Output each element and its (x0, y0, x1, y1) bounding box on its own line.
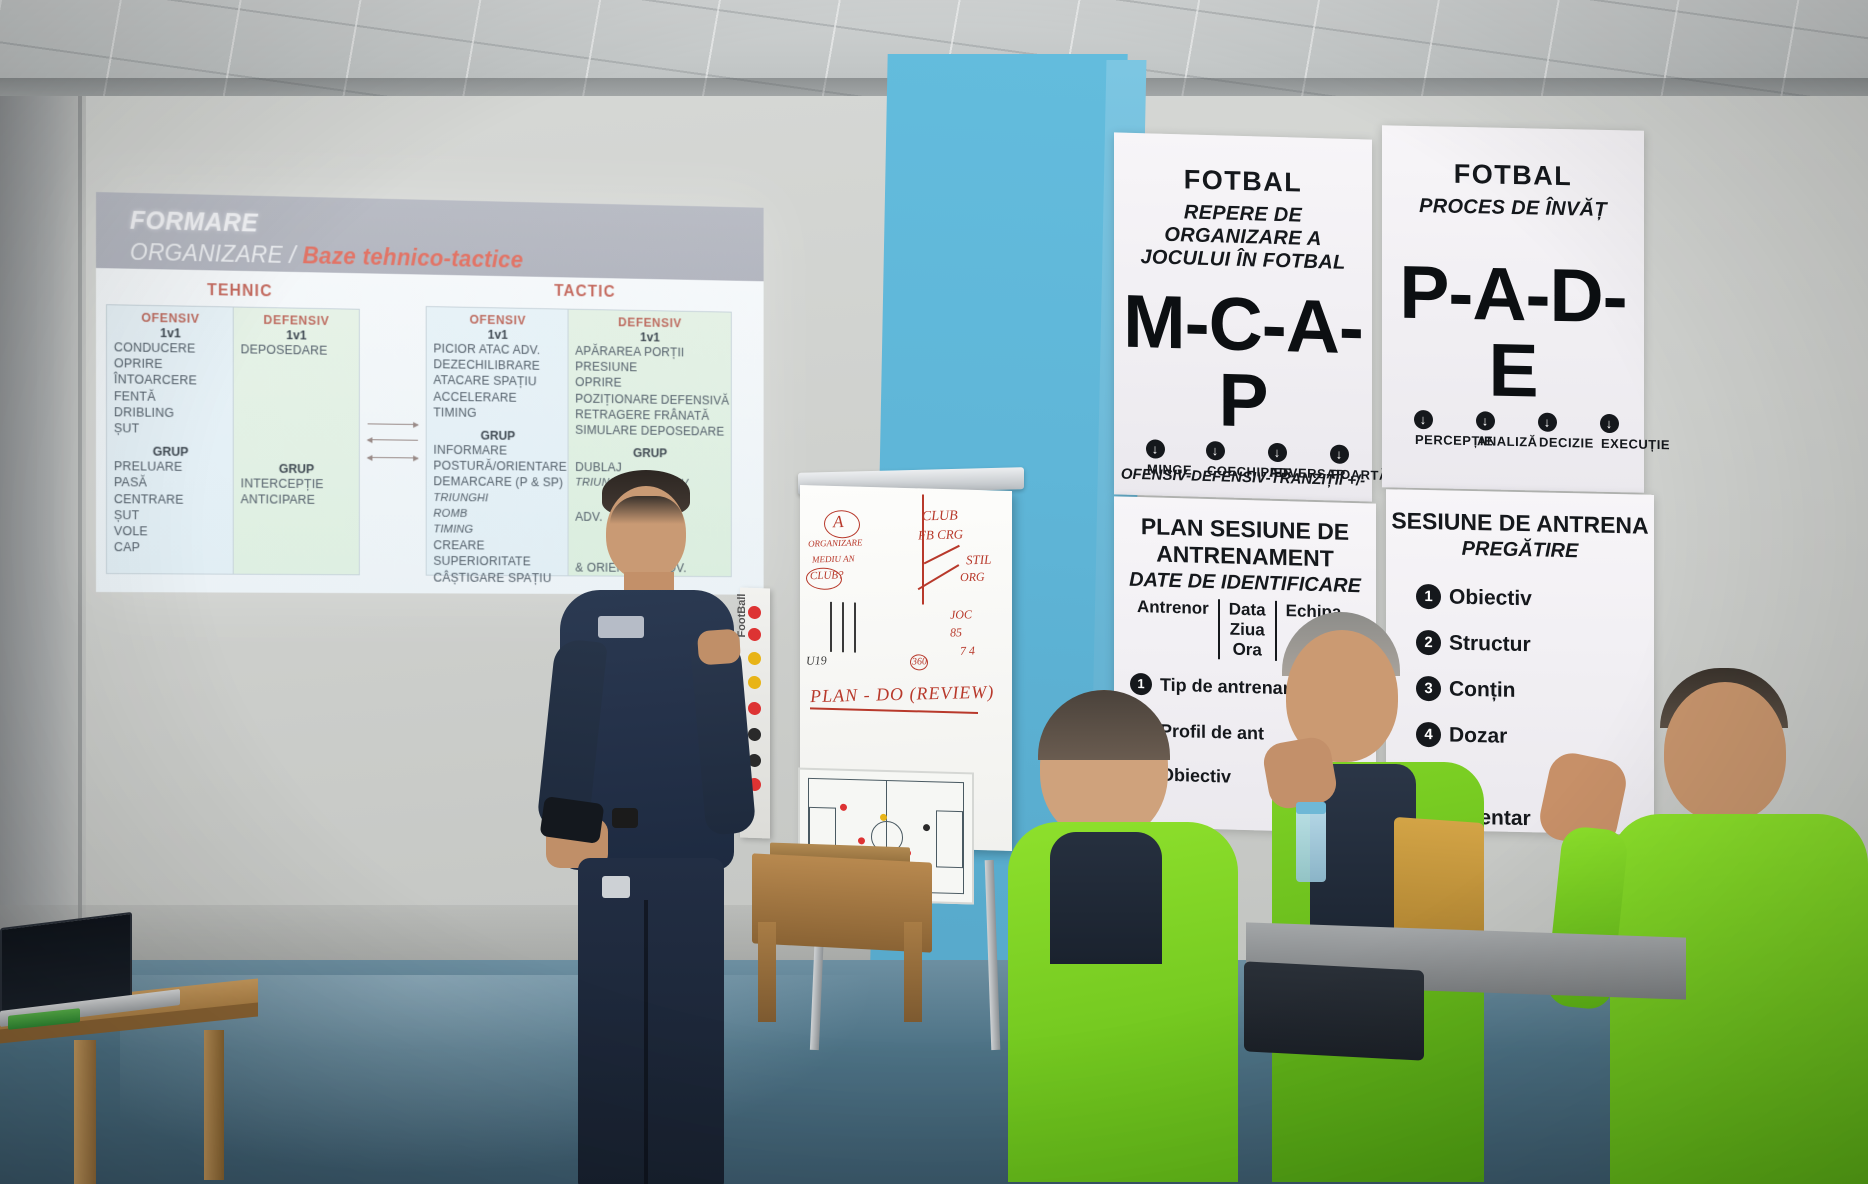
handwriting-note: MEDIU AN (812, 553, 855, 564)
poster-kicker: FOTBAL (1382, 157, 1644, 193)
attendee-hand (1261, 735, 1339, 812)
poster-kicker: FOTBAL (1114, 162, 1372, 200)
handwriting-stroke (922, 494, 924, 604)
slide-title: FORMARE (130, 207, 258, 239)
poster-legend-item: ↓ DECIZIE (1532, 412, 1562, 450)
handwriting-note: CLUB? (810, 569, 844, 582)
list-item: ATACARE SPAȚIU (427, 372, 569, 390)
slide-subtitle-main: ORGANIZARE / (130, 239, 303, 268)
handwriting-note: JOC (950, 607, 973, 623)
arrow-down-icon: ↓ (1330, 444, 1349, 464)
column-header: OFENSIV (107, 310, 234, 326)
desk-leg (204, 1030, 224, 1180)
poster-legend-label: EXECUȚIE (1601, 437, 1617, 452)
panel-tehnic-ofensiv: OFENSIV 1v1 CONDUCERE OPRIRE ÎNTOARCERE … (106, 304, 235, 575)
arrow-down-icon: ↓ (1600, 414, 1619, 433)
handwriting-note: 7 4 (960, 644, 976, 659)
section-label-tehnic: TEHNIC (207, 282, 273, 301)
list-item: 1 Obiectiv (1416, 584, 1532, 611)
attendee-front-left (988, 690, 1248, 1184)
list-item: OPRIRE (569, 375, 731, 393)
trouser-logo (602, 876, 630, 898)
handwriting-underline (810, 707, 978, 714)
poster-acronym: P-A-D-E (1382, 253, 1644, 410)
handwriting-note: STIL (966, 552, 992, 569)
arrow-down-icon: ↓ (1538, 413, 1557, 432)
handwriting-note: U19 (806, 653, 827, 669)
list-item: INFORMARE (427, 442, 569, 459)
presenter-phone (540, 796, 605, 844)
poster-heading-line1: PROCES DE ÎNVĂȚ (1382, 194, 1644, 222)
arrow-down-icon: ↓ (1206, 441, 1225, 461)
presenter-watch (612, 808, 638, 828)
poster-legend-label: PERCEPȚIE (1415, 433, 1431, 448)
group-label: GRUP (234, 462, 359, 477)
stand-leg (904, 922, 922, 1022)
player-magnet (880, 814, 887, 821)
handwriting-note: ORGANIZARE (808, 537, 863, 548)
handwriting-stroke (830, 602, 832, 652)
player-magnet (840, 804, 847, 811)
poster-legend-item: ↓ ANALIZĂ (1470, 411, 1500, 449)
list-item: CENTRARE (107, 491, 234, 508)
group-label: GRUP (107, 444, 234, 459)
poster-legend-label: ANALIZĂ (1477, 434, 1493, 449)
poster-heading-line1: REPERE DE ORGANIZARE A (1114, 199, 1372, 252)
list-item: INTERCEPȚIE (234, 476, 359, 493)
list-item: CONDUCERE (107, 339, 234, 357)
player-magnet (858, 837, 865, 844)
column-header: DEFENSIV (234, 312, 359, 328)
arrow-down-icon: ↓ (1476, 411, 1495, 430)
list-item: ȘUT (107, 507, 234, 524)
attendee-jacket (1610, 814, 1868, 1184)
poster-legend-label: DECIZIE (1539, 436, 1555, 451)
list-item: PRELUARE (107, 458, 234, 475)
handwriting-note: A (832, 512, 843, 532)
arrow-down-icon: ↓ (1414, 410, 1433, 429)
list-item: OPRIRE (107, 355, 234, 373)
penalty-box-right (936, 810, 963, 868)
list-item: FENTĂ (107, 388, 234, 406)
attendee-head (1664, 682, 1786, 822)
bottle-cap (1296, 802, 1326, 814)
list-item: ȘUT (107, 420, 234, 438)
connector-arrows (366, 419, 426, 471)
water-bottle (1296, 806, 1326, 882)
handwriting-bottom-note: PLAN - DO (REVIEW) (810, 682, 995, 708)
trouser-seam (644, 900, 648, 1184)
section-label-tactic: TACTIC (554, 283, 615, 302)
handwriting-stroke (924, 545, 960, 564)
handwriting-note: 360 (912, 656, 928, 667)
session-heading-line1: SESIUNE DE ANTRENA (1386, 507, 1654, 540)
presenter-hand-right (697, 629, 741, 666)
stand-leg (758, 922, 776, 1022)
panel-tehnic-defensiv: DEFENSIV 1v1 DEPOSEDARE GRUP INTERCEPȚIE… (233, 306, 360, 575)
list-number: 1 (1416, 584, 1441, 610)
list-item: PASĂ (107, 475, 234, 492)
list-item: POZIȚIONARE DEFENSIVĂ (569, 390, 731, 408)
poster-legend-item: ↓ EXECUȚIE (1594, 414, 1624, 452)
presenter-logo (598, 616, 644, 638)
handwriting-note: FB CRG (918, 526, 964, 543)
handwriting-note: 85 (950, 625, 963, 640)
list-label: Obiectiv (1449, 585, 1532, 611)
table-header-antrenor: Antrenor (1128, 597, 1220, 660)
list-item: VOLE (107, 523, 234, 540)
poster-acronym: M-C-A-P (1114, 282, 1372, 441)
arrow-left (368, 439, 418, 441)
attendee-right (1544, 668, 1868, 1184)
handwriting-stroke (842, 602, 844, 652)
list-item: ANTICIPARE (234, 492, 359, 509)
handwriting-stroke (854, 603, 856, 653)
handwriting-note: CLUB (922, 509, 959, 526)
desk-leg (74, 1040, 96, 1184)
arrow-down-icon: ↓ (1146, 439, 1165, 459)
arrow-both (368, 457, 418, 459)
plan-subheading: DATE DE IDENTIFICARE (1114, 568, 1376, 598)
column-header: DEFENSIV (569, 315, 731, 331)
poster-mcap: FOTBAL REPERE DE ORGANIZARE A JOCULUI ÎN… (1114, 132, 1372, 501)
attendee-collar (1050, 832, 1162, 964)
column-header: OFENSIV (427, 312, 569, 328)
list-item: DRIBLING (107, 404, 234, 422)
slide-subtitle-accent: Baze tehnico-tactice (302, 242, 523, 272)
table-item-dark (1244, 961, 1424, 1060)
photo-scene: FORMARE ORGANIZARE / Baze tehnico-tactic… (0, 0, 1868, 1184)
arrow-right (368, 423, 418, 425)
presenter-trousers (578, 858, 724, 1184)
poster-legend-item: ↓ PERCEPȚIE (1408, 410, 1438, 448)
list-item: ACCELERARE (427, 388, 569, 406)
poster-pade: FOTBAL PROCES DE ÎNVĂȚ P-A-D-E ↓ PERCEPȚ… (1382, 125, 1644, 492)
handwriting-note: ORG (960, 570, 985, 586)
player-magnet (923, 824, 930, 831)
attendee-hair (1038, 690, 1170, 760)
list-item: CAP (107, 539, 234, 556)
list-item: ÎNTOARCERE (107, 372, 234, 390)
wall-seam (78, 96, 82, 976)
list-item: DEPOSEDARE (234, 341, 359, 359)
arrow-down-icon: ↓ (1268, 443, 1287, 463)
list-item: SIMULARE DEPOSEDARE (569, 422, 731, 440)
presenter (540, 470, 750, 1184)
session-subheading: PREGĂTIRE (1386, 536, 1654, 565)
list-item: TIMING (427, 404, 569, 422)
